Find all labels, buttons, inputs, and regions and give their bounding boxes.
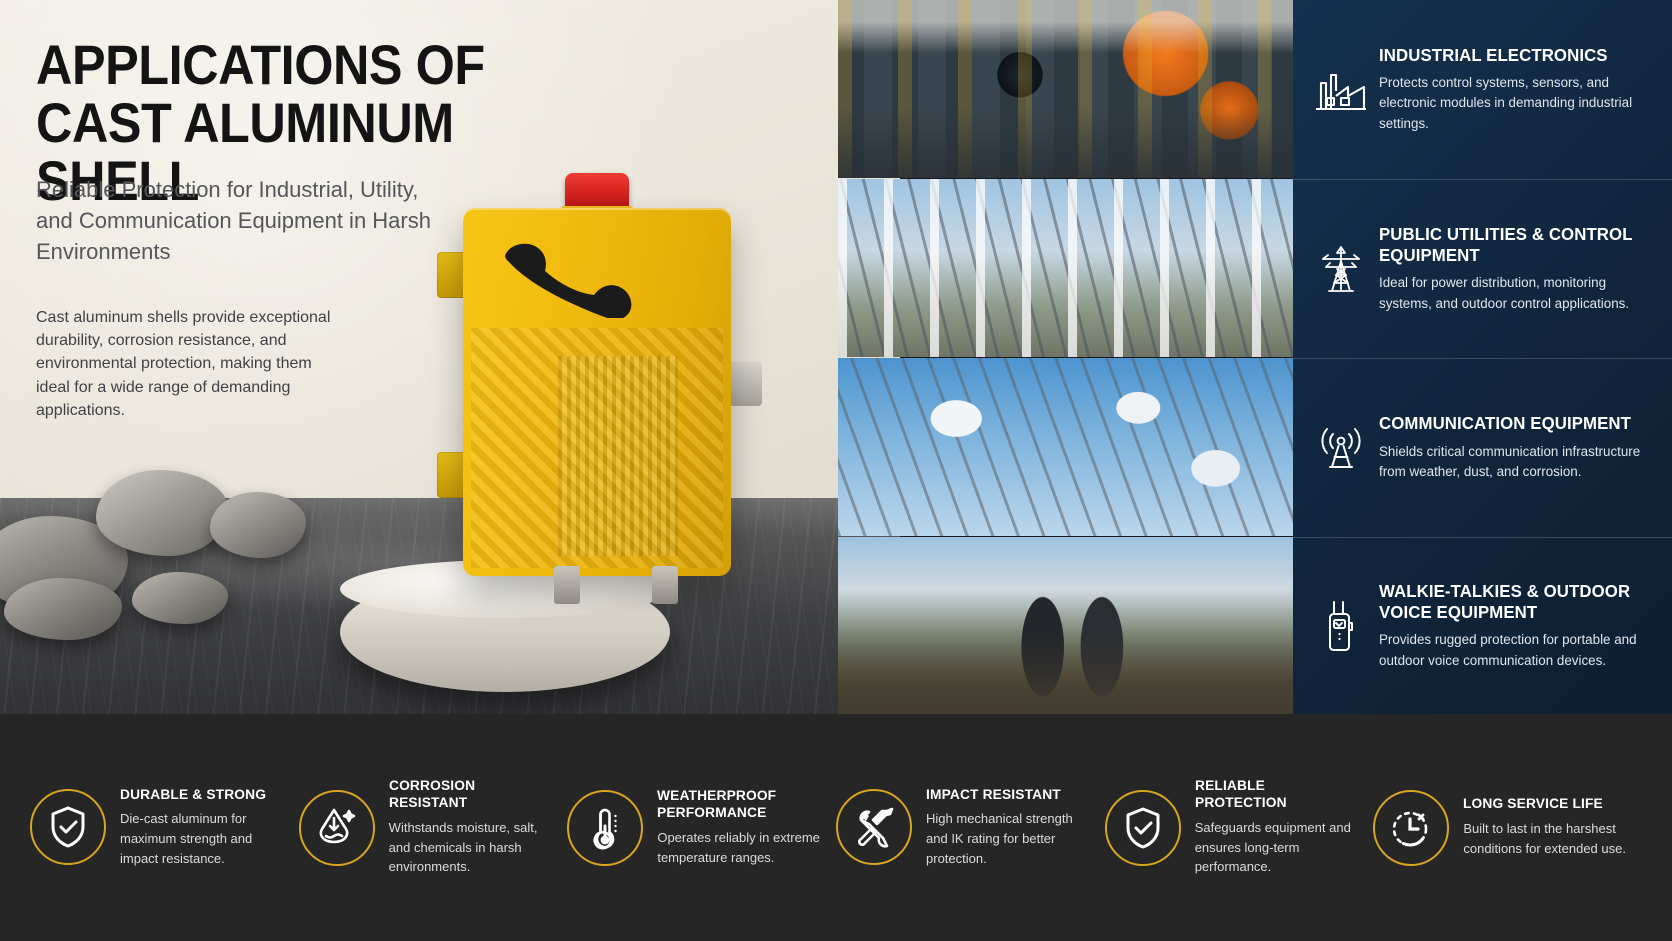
feature-text: DURABLE & STRONG Die-cast aluminum for m… [120, 787, 291, 869]
hero-panel: APPLICATIONS OF CAST ALUMINUM SHELL Reli… [0, 0, 900, 714]
feature-text: CORROSION RESISTANT Withstands moisture,… [389, 778, 560, 877]
power-pylon-icon [1303, 243, 1379, 295]
photo-walkie-talkies [838, 537, 1293, 714]
feature-title: IMPACT RESISTANT [926, 787, 1092, 805]
feature-impact-resistant[interactable]: IMPACT RESISTANT High mechanical strengt… [836, 787, 1105, 869]
application-title: PUBLIC UTILITIES & CONTROL EQUIPMENT [1379, 224, 1639, 267]
feature-text: IMPACT RESISTANT High mechanical strengt… [926, 787, 1097, 869]
feature-title: WEATHERPROOF PERFORMANCE [657, 788, 823, 823]
telephone-handset-icon [501, 238, 651, 318]
feature-desc: Die-cast aluminum for maximum strength a… [120, 809, 291, 868]
page-subtitle: Reliable Protection for Industrial, Util… [36, 174, 456, 268]
cable-gland-left [554, 566, 580, 604]
application-desc: Provides rugged protection for portable … [1379, 630, 1650, 671]
feature-desc: Safeguards equipment and ensures long-te… [1195, 818, 1366, 877]
application-title: WALKIE-TALKIES & OUTDOOR VOICE EQUIPMENT [1379, 581, 1639, 624]
clock-icon [1373, 790, 1449, 866]
application-row-communication-equipment[interactable]: COMMUNICATION EQUIPMENT Shields critical… [1293, 358, 1672, 537]
feature-title: RELIABLE PROTECTION [1195, 778, 1361, 813]
feature-text: RELIABLE PROTECTION Safeguards equipment… [1195, 778, 1366, 877]
wrench-hammer-icon [836, 789, 912, 865]
enclosure-latch [728, 362, 762, 406]
page-intro-paragraph: Cast aluminum shells provide exceptional… [36, 306, 336, 422]
photo-communication-tower [838, 358, 1293, 536]
shield-check-icon [30, 789, 106, 865]
infographic-page: APPLICATIONS OF CAST ALUMINUM SHELL Reli… [0, 0, 1672, 941]
feature-title: CORROSION RESISTANT [389, 778, 555, 813]
feature-title: LONG SERVICE LIFE [1463, 796, 1629, 814]
application-title: INDUSTRIAL ELECTRONICS [1379, 45, 1639, 66]
feature-durable-strong[interactable]: DURABLE & STRONG Die-cast aluminum for m… [30, 787, 299, 869]
thermometer-icon [567, 790, 643, 866]
feature-desc: High mechanical strength and IK rating f… [926, 809, 1097, 868]
feature-text: WEATHERPROOF PERFORMANCE Operates reliab… [657, 788, 828, 868]
photo-industrial-electronics [838, 0, 1293, 178]
broadcast-antenna-icon [1303, 424, 1379, 472]
photo-strip [838, 0, 1293, 714]
walkie-talkie-icon [1303, 599, 1379, 653]
application-text: COMMUNICATION EQUIPMENT Shields critical… [1379, 413, 1650, 482]
photo-public-utilities [838, 179, 1293, 357]
enclosure-ribs [558, 356, 678, 556]
feature-reliable-protection[interactable]: RELIABLE PROTECTION Safeguards equipment… [1105, 778, 1374, 877]
application-row-industrial-electronics[interactable]: INDUSTRIAL ELECTRONICS Protects control … [1293, 0, 1672, 179]
feature-bar: DURABLE & STRONG Die-cast aluminum for m… [0, 714, 1672, 941]
page-title-line1: APPLICATIONS OF [36, 33, 485, 96]
feature-title: DURABLE & STRONG [120, 787, 286, 805]
application-desc: Protects control systems, sensors, and e… [1379, 73, 1650, 134]
application-list-panel: INDUSTRIAL ELECTRONICS Protects control … [1293, 0, 1672, 714]
application-title: COMMUNICATION EQUIPMENT [1379, 413, 1639, 434]
top-section: APPLICATIONS OF CAST ALUMINUM SHELL Reli… [0, 0, 1672, 714]
application-row-public-utilities[interactable]: PUBLIC UTILITIES & CONTROL EQUIPMENT Ide… [1293, 179, 1672, 358]
feature-text: LONG SERVICE LIFE Built to last in the h… [1463, 796, 1634, 858]
cable-gland-right [652, 566, 678, 604]
factory-icon [1303, 67, 1379, 113]
feature-long-service-life[interactable]: LONG SERVICE LIFE Built to last in the h… [1373, 790, 1642, 866]
application-text: WALKIE-TALKIES & OUTDOOR VOICE EQUIPMENT… [1379, 581, 1650, 671]
application-row-walkie-talkies[interactable]: WALKIE-TALKIES & OUTDOOR VOICE EQUIPMENT… [1293, 537, 1672, 714]
feature-desc: Built to last in the harshest conditions… [1463, 819, 1634, 859]
application-desc: Shields critical communication infrastru… [1379, 442, 1650, 483]
feature-weatherproof-performance[interactable]: WEATHERPROOF PERFORMANCE Operates reliab… [567, 788, 836, 868]
shield-check-icon [1105, 790, 1181, 866]
water-droplet-icon [299, 790, 375, 866]
feature-desc: Operates reliably in extreme temperature… [657, 828, 828, 868]
application-desc: Ideal for power distribution, monitoring… [1379, 273, 1650, 314]
application-text: INDUSTRIAL ELECTRONICS Protects control … [1379, 45, 1650, 134]
feature-corrosion-resistant[interactable]: CORROSION RESISTANT Withstands moisture,… [299, 778, 568, 877]
rock-cluster-decoration [0, 448, 330, 648]
application-text: PUBLIC UTILITIES & CONTROL EQUIPMENT Ide… [1379, 224, 1650, 314]
feature-desc: Withstands moisture, salt, and chemicals… [389, 818, 560, 877]
yellow-cast-aluminum-enclosure [463, 208, 731, 576]
